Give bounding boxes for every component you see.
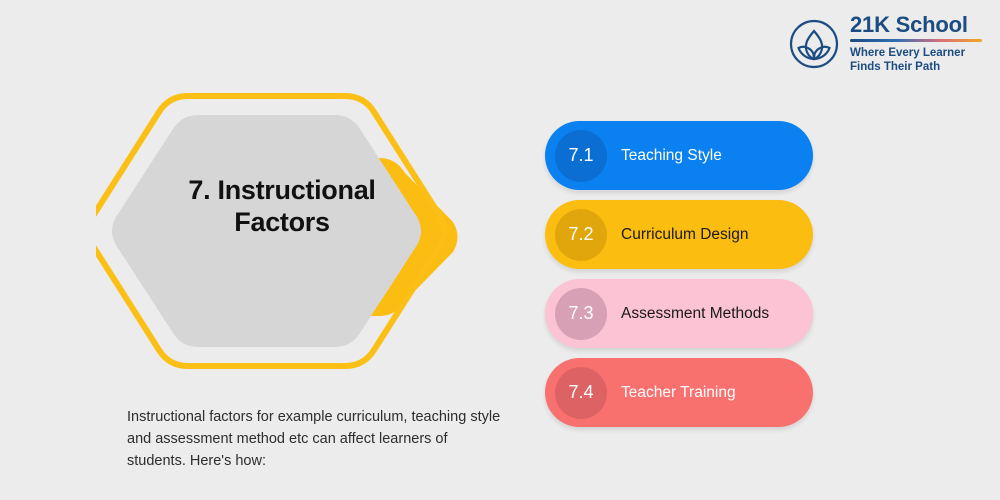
hexagon-graphic: 7. Instructional Factors	[96, 82, 466, 378]
list-item-number: 7.1	[568, 145, 593, 166]
lotus-in-circle-icon	[788, 18, 840, 70]
description-text: Instructional factors for example curric…	[127, 406, 502, 473]
list-item-number-badge: 7.1	[555, 130, 607, 182]
list-item-number: 7.2	[568, 224, 593, 245]
list-item-label: Assessment Methods	[621, 305, 769, 323]
list-item-label: Teaching Style	[621, 147, 722, 165]
page-title: 7. Instructional Factors	[142, 174, 422, 239]
list-item-assessment-methods[interactable]: 7.3 Assessment Methods	[545, 279, 813, 348]
list-item-label: Curriculum Design	[621, 226, 748, 244]
list-item-number: 7.4	[568, 382, 593, 403]
list-item-number-badge: 7.3	[555, 288, 607, 340]
brand-tagline: Where Every Learner Finds Their Path	[850, 46, 982, 74]
list-item-number-badge: 7.4	[555, 367, 607, 419]
list-item-number: 7.3	[568, 303, 593, 324]
list-item-teaching-style[interactable]: 7.1 Teaching Style	[545, 121, 813, 190]
brand-text-block: 21K School Where Every Learner Finds The…	[850, 14, 982, 74]
brand-tagline-line-2: Finds Their Path	[850, 61, 940, 73]
brand-tagline-line-1: Where Every Learner	[850, 47, 965, 59]
brand-name: 21K School	[850, 14, 982, 36]
factor-list: 7.1 Teaching Style 7.2 Curriculum Design…	[545, 121, 813, 437]
list-item-label: Teacher Training	[621, 384, 736, 402]
list-item-number-badge: 7.2	[555, 209, 607, 261]
list-item-teacher-training[interactable]: 7.4 Teacher Training	[545, 358, 813, 427]
brand-underline-rule	[850, 39, 982, 42]
brand-logo: 21K School Where Every Learner Finds The…	[788, 14, 982, 74]
list-item-curriculum-design[interactable]: 7.2 Curriculum Design	[545, 200, 813, 269]
